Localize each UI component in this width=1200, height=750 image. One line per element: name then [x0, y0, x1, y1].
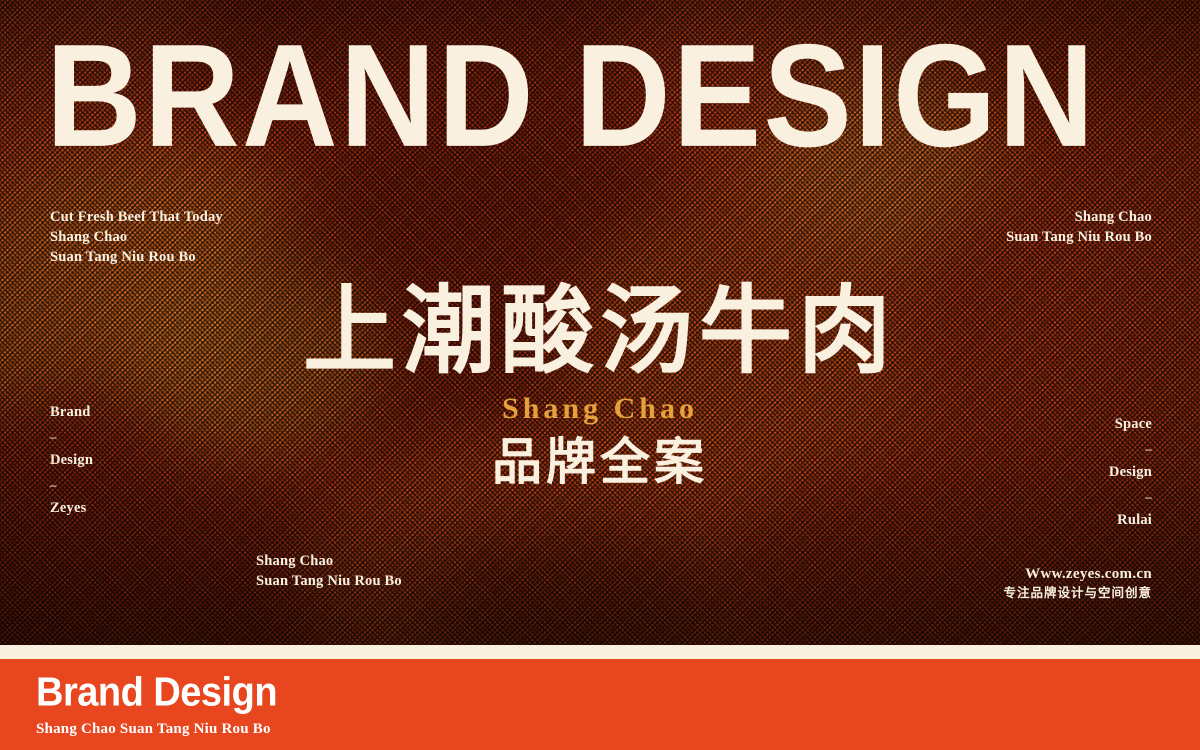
website-block: Www.zeyes.com.cn 专注品牌设计与空间创意	[1003, 565, 1152, 601]
pinyin-subtitle: Shang Chao	[0, 392, 1200, 426]
footer-brand-block: Brand Design Shang Chao Suan Tang Niu Ro…	[36, 670, 277, 738]
bottom-left-line-2: Suan Tang Niu Rou Bo	[256, 571, 402, 591]
top-left-caption: Cut Fresh Beef That Today Shang Chao Sua…	[50, 207, 223, 267]
hero-halftone-image: BRAND DESIGN Cut Fresh Beef That Today S…	[0, 0, 1200, 645]
chinese-tagline: 专注品牌设计与空间创意	[1003, 584, 1152, 601]
page-title: BRAND DESIGN	[46, 22, 1200, 171]
website-url[interactable]: Www.zeyes.com.cn	[1003, 565, 1152, 584]
poster-canvas: BRAND DESIGN Cut Fresh Beef That Today S…	[0, 0, 1200, 750]
footer-subtitle: Shang Chao Suan Tang Niu Rou Bo	[36, 720, 277, 738]
left-list-item-3: Zeyes	[50, 500, 93, 517]
top-left-line-1: Cut Fresh Beef That Today	[50, 207, 223, 227]
right-list-item-3: Rulai	[1109, 512, 1152, 529]
top-right-caption: Shang Chao Suan Tang Niu Rou Bo	[1006, 207, 1152, 247]
right-list-dash-2: –	[1109, 489, 1152, 504]
footer-bar: Brand Design Shang Chao Suan Tang Niu Ro…	[0, 659, 1200, 750]
top-left-line-3: Suan Tang Niu Rou Bo	[50, 247, 223, 267]
bottom-left-caption: Shang Chao Suan Tang Niu Rou Bo	[256, 551, 402, 591]
footer-title: Brand Design	[36, 670, 277, 715]
chinese-subtitle: 品牌全案	[0, 434, 1200, 490]
top-right-line-2: Suan Tang Niu Rou Bo	[1006, 227, 1152, 247]
chinese-headline: 上潮酸汤牛肉	[0, 282, 1200, 381]
hero-type-layer: BRAND DESIGN Cut Fresh Beef That Today S…	[0, 0, 1200, 645]
top-left-line-2: Shang Chao	[50, 227, 223, 247]
bottom-left-line-1: Shang Chao	[256, 551, 402, 571]
divider-gap	[0, 645, 1200, 659]
top-right-line-1: Shang Chao	[1006, 207, 1152, 227]
